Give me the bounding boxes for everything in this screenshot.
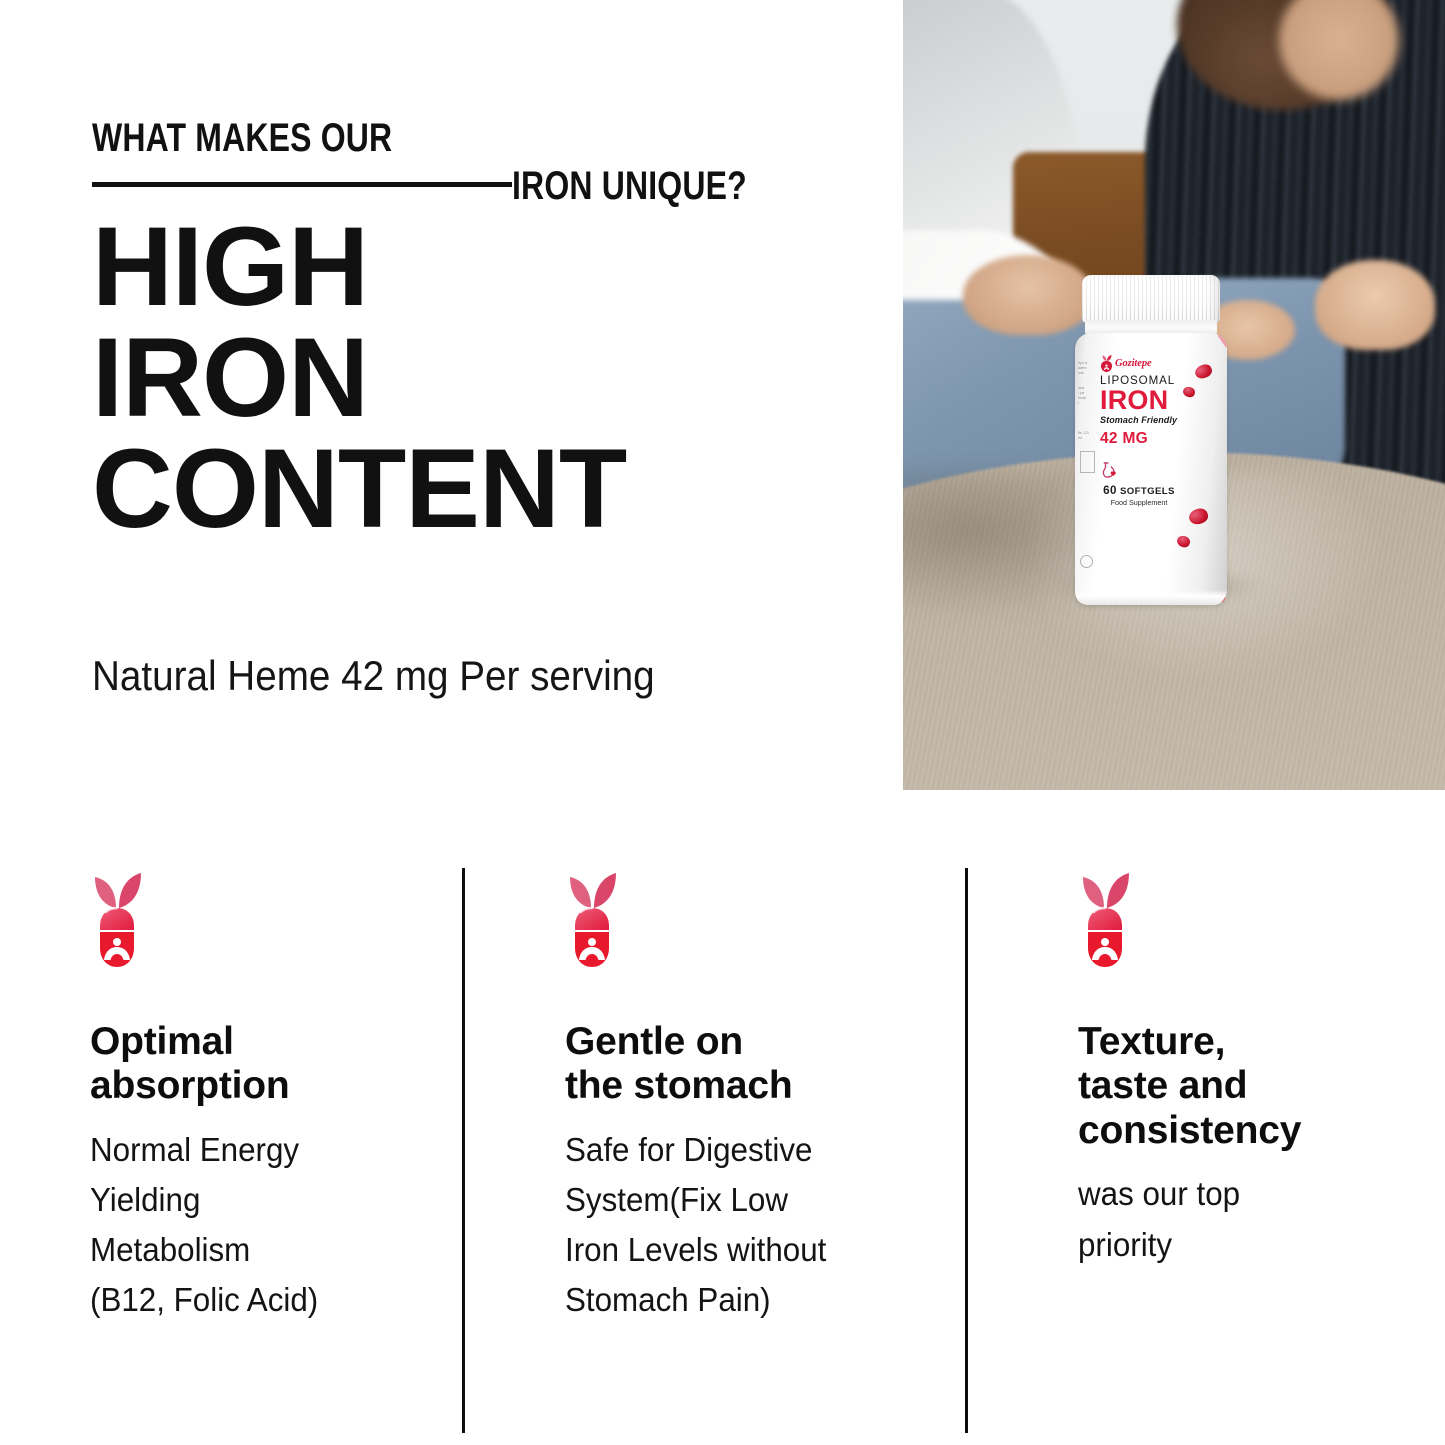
feature-title: Gentle onthe stomach <box>565 1020 905 1109</box>
feature-column-1: Optimalabsorption Normal Energy Yielding… <box>90 868 420 1326</box>
label-category: Food Supplement <box>1100 498 1178 507</box>
page-title: HIGH IRON CONTENT <box>92 212 872 545</box>
label-side-box <box>1080 451 1095 473</box>
label-main-block: Gozitepe LIPOSOMAL IRON Stomach Friendly… <box>1100 355 1192 507</box>
page-title-line-1: HIGH <box>92 212 872 323</box>
label-brand: Gozitepe <box>1100 355 1192 372</box>
photo-hands-right <box>1315 260 1435 350</box>
product-bottle: ıly ıt aademrıneıtsal/ juermddıffe, C2im… <box>1075 275 1227 605</box>
feature-body: Normal Energy Yielding Metabolism (B12, … <box>90 1125 404 1326</box>
label-side-seal-icon <box>1080 555 1093 568</box>
photo-hands-left <box>963 255 1093 335</box>
label-product-name: IRON <box>1100 388 1192 414</box>
bottle-base <box>1076 590 1226 605</box>
column-divider <box>462 868 465 1433</box>
label-brand-name: Gozitepe <box>1115 358 1152 369</box>
bottle-cap <box>1082 275 1220 323</box>
feature-title: Texture,taste andconsistency <box>1078 1020 1408 1153</box>
label-tagline: Stomach Friendly <box>1100 415 1192 425</box>
feature-columns: Optimalabsorption Normal Energy Yielding… <box>0 868 1445 1438</box>
feature-body: Safe for Digestive System(Fix Low Iron L… <box>565 1125 888 1326</box>
label-dose: 42 MG <box>1100 430 1192 448</box>
stomach-heart-icon <box>1100 461 1120 479</box>
capsule-leaf-person-icon <box>1078 868 1132 974</box>
beet-icon <box>1100 355 1113 372</box>
eyebrow-line-2: IRON UNIQUE? <box>512 164 747 209</box>
hero-product-photo: ıly ıt aademrıneıtsal/ juermddıffe, C2im… <box>903 0 1445 790</box>
eyebrow-line-1: WHAT MAKES OUR <box>92 116 392 161</box>
page-title-line-3: CONTENT <box>92 434 872 545</box>
feature-title: Optimalabsorption <box>90 1020 420 1109</box>
bottle-label: ıly ıt aademrıneıtsal/ juermddıffe, C2im… <box>1075 333 1227 605</box>
column-divider <box>965 868 968 1433</box>
capsule-leaf-person-icon <box>90 868 144 974</box>
feature-column-2: Gentle onthe stomach Safe for Digestive … <box>565 868 905 1326</box>
feature-body: was our top priority <box>1078 1169 1392 1269</box>
eyebrow-rule <box>92 182 512 187</box>
page-subtitle: Natural Heme 42 mg Per serving <box>92 652 655 700</box>
feature-column-3: Texture,taste andconsistency was our top… <box>1078 868 1408 1270</box>
capsule-leaf-person-icon <box>565 868 619 974</box>
page-title-line-2: IRON <box>92 323 872 434</box>
label-count: 60 SOFTGELS <box>1100 484 1178 497</box>
